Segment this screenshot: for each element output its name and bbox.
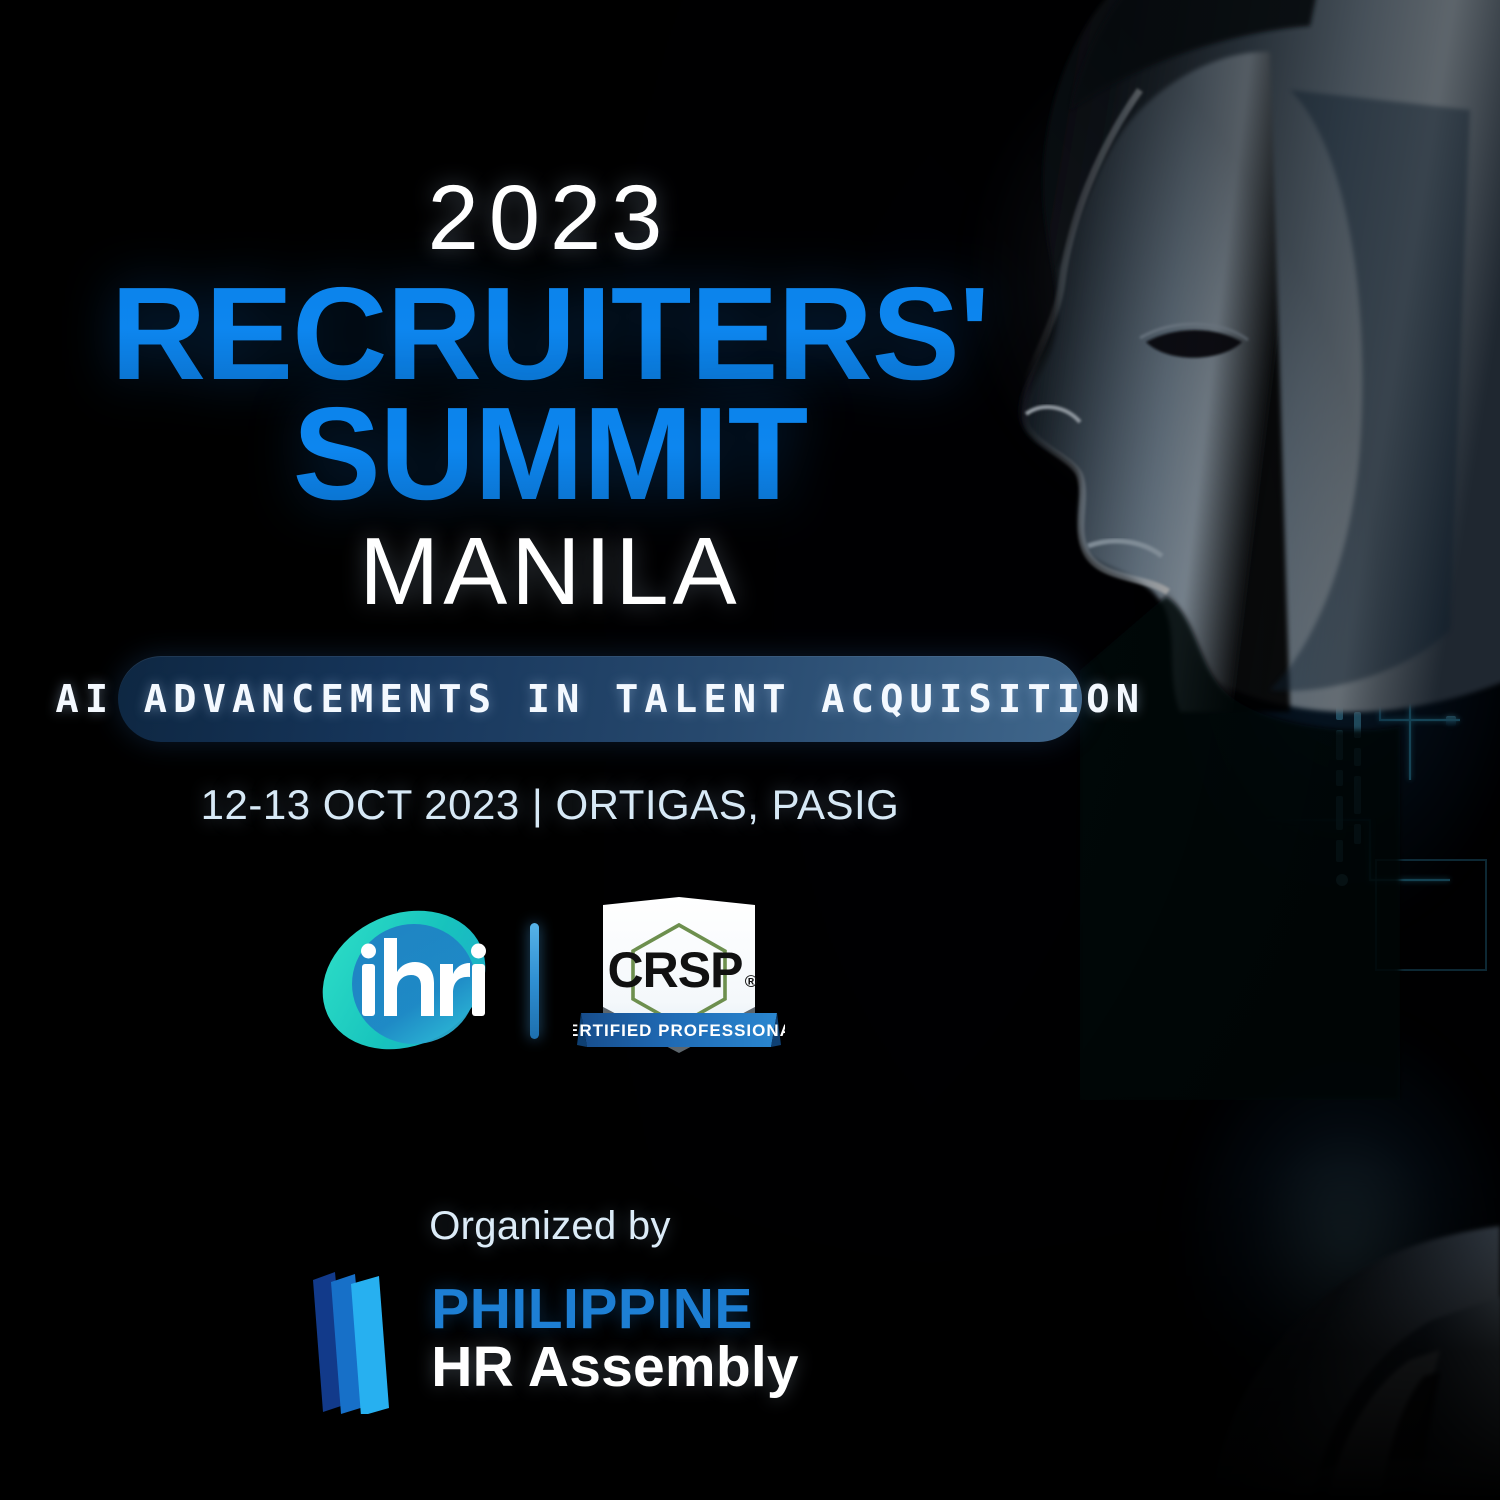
organizer-logo: PHILIPPINE HR Assembly	[0, 1258, 1100, 1418]
tagline-text: AI ADVANCEMENTS IN TALENT ACQUISITION	[55, 677, 1145, 721]
svg-text:CERTIFIED PROFESSIONAL: CERTIFIED PROFESSIONAL	[573, 1021, 785, 1040]
phra-bars-icon	[301, 1262, 409, 1414]
phra-line2: HR Assembly	[431, 1338, 799, 1396]
poster-canvas: 2023 RECRUITERS' SUMMIT MANILA AI ADVANC…	[0, 0, 1500, 1500]
suit-shoulder	[1080, 1020, 1500, 1500]
svg-text:®: ®	[744, 972, 757, 991]
ihri-logo	[316, 898, 496, 1063]
poster-content: 2023 RECRUITERS' SUMMIT MANILA AI ADVANC…	[0, 0, 1100, 1500]
date-venue-text: 12-13 OCT 2023 | ORTIGAS, PASIG	[0, 781, 1100, 829]
phra-wordmark: PHILIPPINE HR Assembly	[431, 1280, 799, 1396]
svg-text:CRSP: CRSP	[607, 942, 742, 998]
event-year: 2023	[0, 172, 1100, 264]
circuit-board-overlay	[1140, 0, 1500, 1000]
organized-by-label: Organized by	[0, 1204, 1100, 1249]
title-line-summit: SUMMIT	[0, 388, 1100, 520]
phra-line1: PHILIPPINE	[431, 1280, 799, 1338]
logo-divider	[530, 923, 539, 1039]
tagline-banner: AI ADVANCEMENTS IN TALENT ACQUISITION	[118, 656, 1082, 742]
partner-logos: CRSP ® CERTIFIED PROFESSIONAL	[0, 888, 1100, 1073]
blue-bottom-glow	[1070, 1000, 1500, 1500]
crsp-badge-logo: CRSP ® CERTIFIED PROFESSIONAL	[573, 895, 785, 1067]
title-city: MANILA	[0, 524, 1100, 620]
